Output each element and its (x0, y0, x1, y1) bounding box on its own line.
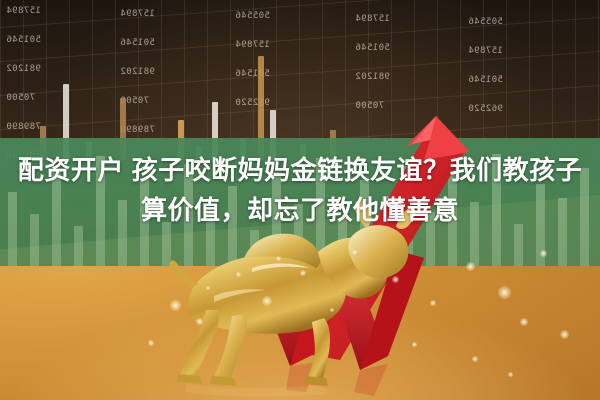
headline-line-2: 算价值，却忘了教他懂善意 (0, 190, 600, 230)
headline-line-1: 配资开户 孩子咬断妈妈金链换友谊？我们教孩子 (0, 150, 600, 190)
headline: 配资开户 孩子咬断妈妈金链换友谊？我们教孩子 算价值，却忘了教他懂善意 (0, 150, 600, 230)
banner-image: 1578945015469812027050078989070520015789… (0, 0, 600, 400)
